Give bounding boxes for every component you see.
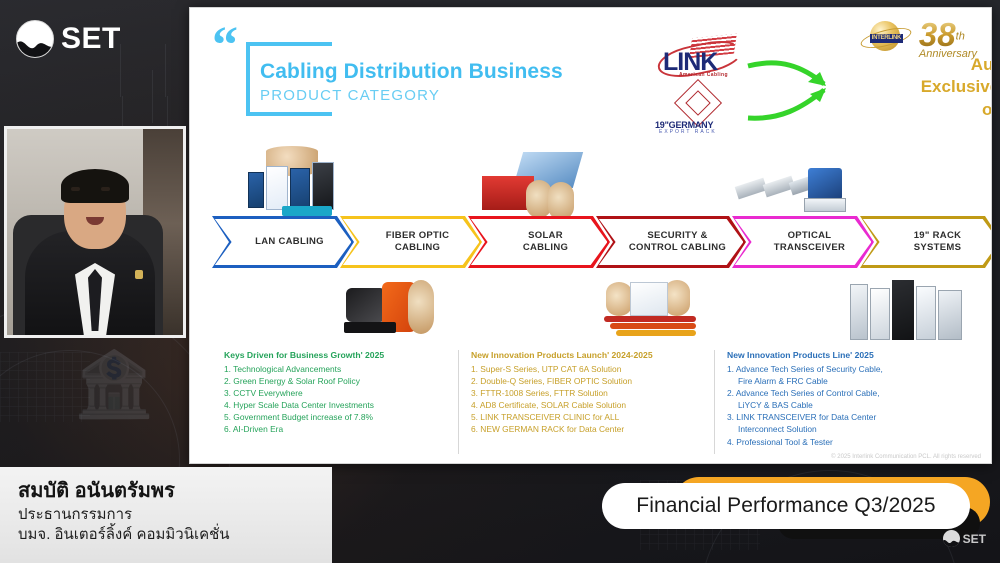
speaker-role: ประธานกรรมการ — [18, 505, 332, 525]
fiber-bundle — [346, 288, 386, 322]
list-item: 4. Professional Tool & Tester — [727, 436, 962, 448]
column-heading: New Innovation Products Launch' 2024-202… — [471, 350, 702, 360]
flow-step-fiber-optic-cabling[interactable]: FIBER OPTIC CABLING — [340, 216, 482, 268]
fiber-optic-spool-image — [342, 280, 462, 342]
speaker-eye — [101, 187, 110, 191]
set-wordmark: SET — [963, 532, 986, 546]
interlink-globe-icon: INTERLINK — [860, 20, 912, 54]
lower-third-nameplate: สมบัติ อนันตรัมพร ประธานกรรมการ บมจ. อิน… — [0, 467, 332, 563]
speaker-name: สมบัติ อนันตรัมพร — [18, 479, 332, 503]
link-brand-logo: LINK American Cabling — [657, 38, 743, 82]
rack-systems-image — [846, 280, 966, 344]
rack-cabinet — [850, 284, 868, 340]
list-item: 4. Hyper Scale Data Center Investments — [224, 399, 446, 411]
flow-step-label: 19" RACK SYSTEMS — [914, 230, 962, 254]
product-box — [266, 166, 288, 210]
product-box — [290, 168, 310, 210]
list-item: 4. AD8 Certificate, SOLAR Cable Solution — [471, 399, 702, 411]
germany-rack-brand-logo: 19"GERMANY EXPORT RACK — [655, 86, 747, 134]
page-subtitle: PRODUCT CATEGORY — [260, 87, 563, 104]
flow-step-label: OPTICAL TRANSCEIVER — [774, 230, 845, 254]
rack-cabinet — [916, 286, 936, 340]
list-item: 2. Double-Q Series, FIBER OPTIC Solution — [471, 375, 702, 387]
list-item: 6. NEW GERMAN RACK for Data Center — [471, 423, 702, 435]
anniversary-ordinal: th — [956, 31, 965, 43]
list-item: 5. Government Budget increase of 7.8% — [224, 411, 446, 423]
column-new-products-line: New Innovation Products Line' 2025 1. Ad… — [714, 350, 974, 454]
germany-tagline: EXPORT RACK — [659, 129, 717, 135]
authorize-headline: Authorize Exclusive Distribution of Asia — [850, 54, 992, 121]
flow-step-security-control-cabling[interactable]: SECURITY & CONTROL CABLING — [596, 216, 746, 268]
presentation-slide: “ Cabling Distribution Business PRODUCT … — [189, 7, 992, 464]
link-tagline: American Cabling — [679, 72, 728, 78]
flow-step-label: SOLAR CABLING — [523, 230, 568, 254]
speaker-video-feed[interactable] — [4, 126, 186, 338]
column-new-products-launch: New Innovation Products Launch' 2024-202… — [458, 350, 714, 454]
flow-step-label: SECURITY & CONTROL CABLING — [629, 230, 726, 254]
list-item-continuation: LiYCY & BAS Cable — [727, 399, 962, 411]
set-logo: SET — [16, 20, 121, 58]
product-box — [248, 172, 264, 208]
lapel-pin — [135, 270, 143, 279]
flow-step-label: FIBER OPTIC CABLING — [386, 230, 449, 254]
list-item: 3. LINK TRANSCEIVER for Data Center — [727, 411, 962, 423]
patch-panel — [804, 198, 846, 212]
flow-step-lan-cabling[interactable]: LAN CABLING — [212, 216, 354, 268]
cable-reel — [606, 282, 632, 316]
column-heading: New Innovation Products Line' 2025 — [727, 350, 962, 360]
list-item: 1. Technological Advancements — [224, 363, 446, 375]
slide-bottom-columns: Keys Driven for Business Growth' 2025 1.… — [212, 350, 974, 454]
list-item: 3. FTTR-1008 Series, FTTR Solution — [471, 387, 702, 399]
list-item: 2. Green Energy & Solar Roof Policy — [224, 375, 446, 387]
list-item: 2. Advance Tech Series of Control Cable, — [727, 387, 962, 399]
segment-title-banner: Financial Performance Q3/2025 SET — [600, 471, 992, 549]
column-list: 1. Technological Advancements 2. Green E… — [224, 363, 446, 436]
authorize-line-2: Exclusive Distribution — [850, 76, 992, 98]
authorize-line-1: Authorize — [850, 54, 992, 76]
cable-reel — [548, 182, 574, 220]
cable-strand — [610, 323, 696, 329]
interlink-wordmark: INTERLINK — [870, 34, 903, 43]
segment-title-text: Financial Performance Q3/2025 — [636, 494, 935, 518]
product-label — [344, 322, 396, 333]
list-item: 1. Advance Tech Series of Security Cable… — [727, 363, 962, 375]
lan-cabling-products-image — [242, 148, 352, 218]
sfp-module — [735, 178, 768, 200]
quotation-mark-icon: “ — [212, 30, 238, 61]
set-wave-icon — [943, 530, 960, 547]
media-converter — [808, 168, 842, 200]
flow-step-solar-cabling[interactable]: SOLAR CABLING — [468, 216, 610, 268]
flow-step-label: LAN CABLING — [255, 236, 324, 248]
flow-step-optical-transceiver[interactable]: OPTICAL TRANSCEIVER — [732, 216, 874, 268]
set-wordmark: SET — [61, 22, 121, 56]
cable-strand — [604, 316, 696, 322]
product-box — [312, 162, 334, 210]
open-frame-rack — [938, 290, 962, 340]
list-item-continuation: Fire Alarm & FRC Cable — [727, 375, 962, 387]
list-item: 5. LINK TRANSCEIVER CLINIC for ALL — [471, 411, 702, 423]
broadcast-stage: 🏦 📊 SET “ Cabling Distribution Business — [0, 0, 1000, 563]
speaker-organization: บมจ. อินเตอร์ลิ้งค์ คอมมิวนิเคชั่น — [18, 525, 332, 545]
slide-title-block: Cabling Distribution Business PRODUCT CA… — [260, 60, 563, 104]
speaker-hair — [61, 169, 129, 203]
list-item: 1. Super-S Series, UTP CAT 6A Solution — [471, 363, 702, 375]
speaker-eye — [71, 187, 80, 191]
column-keys-driven: Keys Driven for Business Growth' 2025 1.… — [212, 350, 458, 454]
cable-strand — [616, 330, 696, 336]
list-item: 6. AI-Driven Era — [224, 423, 446, 435]
column-list: 1. Super-S Series, UTP CAT 6A Solution 2… — [471, 363, 702, 436]
list-item: 3. CCTV Everywhere — [224, 387, 446, 399]
rack-cabinet-black — [892, 280, 914, 340]
product-box — [630, 282, 668, 316]
reel-flange — [408, 280, 434, 334]
list-item-continuation: Interconnect Solution — [727, 423, 962, 435]
column-list: 1. Advance Tech Series of Security Cable… — [727, 363, 962, 448]
set-wave-icon — [16, 20, 54, 58]
rack-cabinet — [870, 288, 890, 340]
authorize-line-3: of Asia — [850, 99, 992, 121]
optical-transceiver-modules-image — [736, 166, 848, 220]
product-label — [282, 206, 332, 216]
product-category-flow: LAN CABLING FIBER OPTIC CABLING SOLAR CA… — [212, 216, 974, 272]
green-arrows-icon — [746, 32, 856, 132]
solar-panel-cable-image — [476, 154, 594, 220]
page-title: Cabling Distribution Business — [260, 60, 563, 84]
banner-white-pill: Financial Performance Q3/2025 — [602, 483, 970, 529]
column-heading: Keys Driven for Business Growth' 2025 — [224, 350, 446, 360]
banner-set-logo: SET — [943, 530, 986, 547]
flow-step-rack-systems[interactable]: 19" RACK SYSTEMS — [860, 216, 992, 268]
copyright-notice: © 2025 Interlink Communication PCL. All … — [831, 454, 981, 460]
bank-icon: 🏦 — [74, 352, 154, 416]
security-control-cable-image — [600, 280, 720, 342]
